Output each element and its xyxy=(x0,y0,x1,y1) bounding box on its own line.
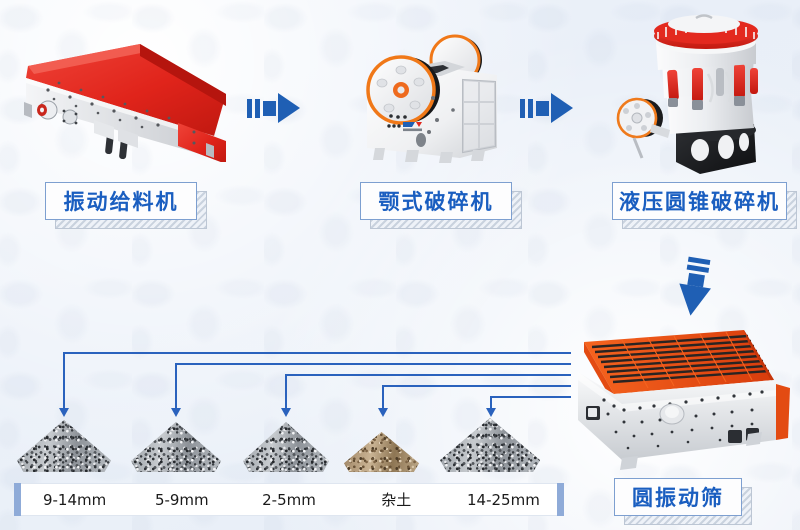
gravel-pile-3 xyxy=(243,422,329,472)
soil-pile-icon xyxy=(344,432,419,472)
connector-tip-2 xyxy=(171,408,181,417)
label-box: 圆振动筛 xyxy=(614,478,742,516)
label-box: 颚式破碎机 xyxy=(360,182,512,220)
label-cone-crusher: 液压圆锥破碎机 xyxy=(612,182,787,220)
connector-drop-4 xyxy=(382,385,384,410)
gravel-pile-5 xyxy=(440,418,540,472)
label-vibrating-screen: 圆振动筛 xyxy=(614,478,742,516)
label-vibrating-feeder: 振动给料机 xyxy=(45,182,197,220)
jaw-crusher-icon xyxy=(345,20,505,170)
product-size-cell: 2-5mm xyxy=(235,491,342,509)
gravel-pile-icon xyxy=(440,418,540,472)
gravel-pile-2 xyxy=(131,422,221,472)
soil-pile-4 xyxy=(344,432,419,472)
arrow-cone-to-screen xyxy=(659,253,731,320)
product-size-bar: 9-14mm 5-9mm 2-5mm 杂土 14-25mm xyxy=(14,483,564,516)
product-size-cell: 14-25mm xyxy=(450,491,557,509)
connector-tip-5 xyxy=(486,408,496,417)
connector-line-2 xyxy=(175,363,571,365)
connector-tip-3 xyxy=(281,408,291,417)
equipment-label: 圆振动筛 xyxy=(632,482,724,512)
size-bar-cap-left xyxy=(14,483,21,516)
vibrating-screen-image xyxy=(562,322,800,470)
connector-line-3 xyxy=(285,374,571,376)
equipment-label: 振动给料机 xyxy=(64,186,179,216)
arrow-bar xyxy=(255,99,260,118)
size-bar-inner: 9-14mm 5-9mm 2-5mm 杂土 14-25mm xyxy=(21,483,557,516)
cone-crusher-image xyxy=(604,12,784,180)
arrow-bar xyxy=(687,265,710,273)
equipment-label: 液压圆锥破碎机 xyxy=(619,186,780,216)
arrow-bar xyxy=(688,257,711,265)
label-box: 振动给料机 xyxy=(45,182,197,220)
arrow-stem xyxy=(263,101,276,116)
arrow-right-icon xyxy=(551,93,573,123)
arrow-stem xyxy=(536,101,549,116)
connector-drop-3 xyxy=(285,374,287,410)
label-box: 液压圆锥破碎机 xyxy=(612,182,787,220)
vibrating-screen-icon xyxy=(562,322,800,470)
arrow-bar xyxy=(247,99,252,118)
gravel-pile-1 xyxy=(17,420,111,472)
gravel-pile-icon xyxy=(243,422,329,472)
product-size-cell: 9-14mm xyxy=(21,491,128,509)
jaw-crusher-image xyxy=(345,20,505,170)
equipment-label: 颚式破碎机 xyxy=(379,186,494,216)
arrow-right-icon xyxy=(278,93,300,123)
connector-tip-1 xyxy=(59,408,69,417)
connector-line-1 xyxy=(63,352,571,354)
product-size-cell: 杂土 xyxy=(343,489,450,510)
connector-tip-4 xyxy=(378,408,388,417)
vibrating-feeder-image xyxy=(18,22,233,162)
size-bar-cap-right xyxy=(557,483,564,516)
arrow-bar xyxy=(528,99,533,118)
connector-line-4 xyxy=(382,385,571,387)
connector-drop-1 xyxy=(63,352,65,410)
flow-diagram-canvas: 振动给料机 xyxy=(0,0,800,530)
gravel-pile-icon xyxy=(131,422,221,472)
product-size-cell: 5-9mm xyxy=(128,491,235,509)
cone-crusher-icon xyxy=(604,12,784,180)
arrow-down-icon xyxy=(675,284,711,319)
arrow-feeder-to-jaw xyxy=(247,93,300,123)
vibrating-feeder-icon xyxy=(18,22,233,162)
gravel-pile-icon xyxy=(17,420,111,472)
arrow-jaw-to-cone xyxy=(520,93,573,123)
connector-line-5 xyxy=(490,396,571,398)
label-jaw-crusher: 颚式破碎机 xyxy=(360,182,512,220)
connector-drop-2 xyxy=(175,363,177,410)
arrow-bar xyxy=(520,99,525,118)
